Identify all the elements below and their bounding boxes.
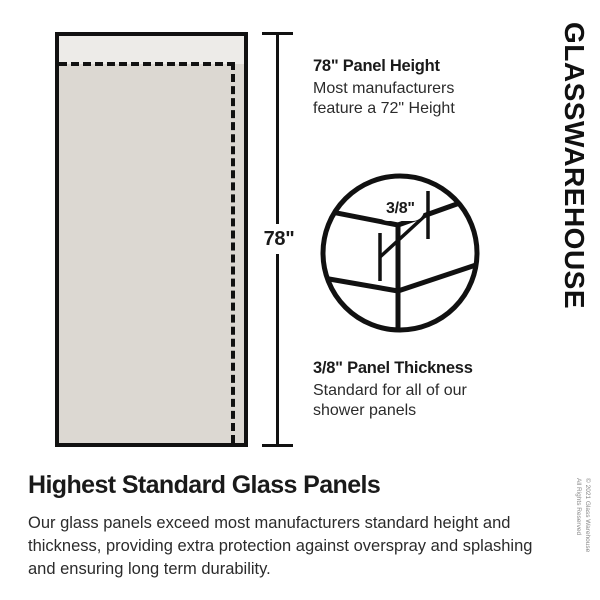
height-dimension-line: 78" — [262, 32, 294, 447]
copyright-notice-text: © 2021 Glass Warehouse All Rights Reserv… — [573, 478, 592, 552]
copyright-notice: © 2021 Glass Warehouse All Rights Reserv… — [572, 478, 596, 588]
thickness-illustration-svg — [318, 171, 482, 335]
dimension-cap-bottom — [262, 444, 293, 447]
panel-dashed-outline-72in — [59, 62, 235, 443]
thickness-diagram: 3/8" — [318, 171, 482, 335]
summary-block: Highest Standard Glass Panels Our glass … — [28, 472, 538, 582]
callout-panel-thickness-line1: Standard for all of our — [313, 381, 528, 402]
thickness-label: 3/8" — [377, 198, 424, 221]
callout-panel-thickness-title: 3/8" Panel Thickness — [313, 358, 528, 379]
summary-body: Our glass panels exceed most manufacture… — [28, 512, 538, 582]
glass-panel-diagram — [55, 32, 248, 447]
brand-wordmark-text: GLASSWAREHOUSE — [560, 22, 588, 309]
brand-wordmark: GLASSWAREHOUSE — [554, 22, 594, 362]
callout-panel-height: 78" Panel Height Most manufacturers feat… — [313, 56, 528, 120]
infographic-root: 78" 78" Panel Height Most manufacturers … — [0, 0, 600, 600]
callout-panel-height-line1: Most manufacturers — [313, 79, 528, 100]
callout-panel-height-title: 78" Panel Height — [313, 56, 528, 77]
summary-title: Highest Standard Glass Panels — [28, 472, 538, 500]
copyright-line-2: All Rights Reserved — [573, 478, 582, 552]
callout-panel-height-line2: feature a 72" Height — [313, 99, 528, 120]
callout-panel-thickness-line2: shower panels — [313, 401, 528, 422]
height-dimension-label: 78" — [252, 224, 306, 254]
callout-panel-thickness: 3/8" Panel Thickness Standard for all of… — [313, 358, 528, 422]
copyright-line-1: © 2021 Glass Warehouse — [583, 478, 592, 552]
